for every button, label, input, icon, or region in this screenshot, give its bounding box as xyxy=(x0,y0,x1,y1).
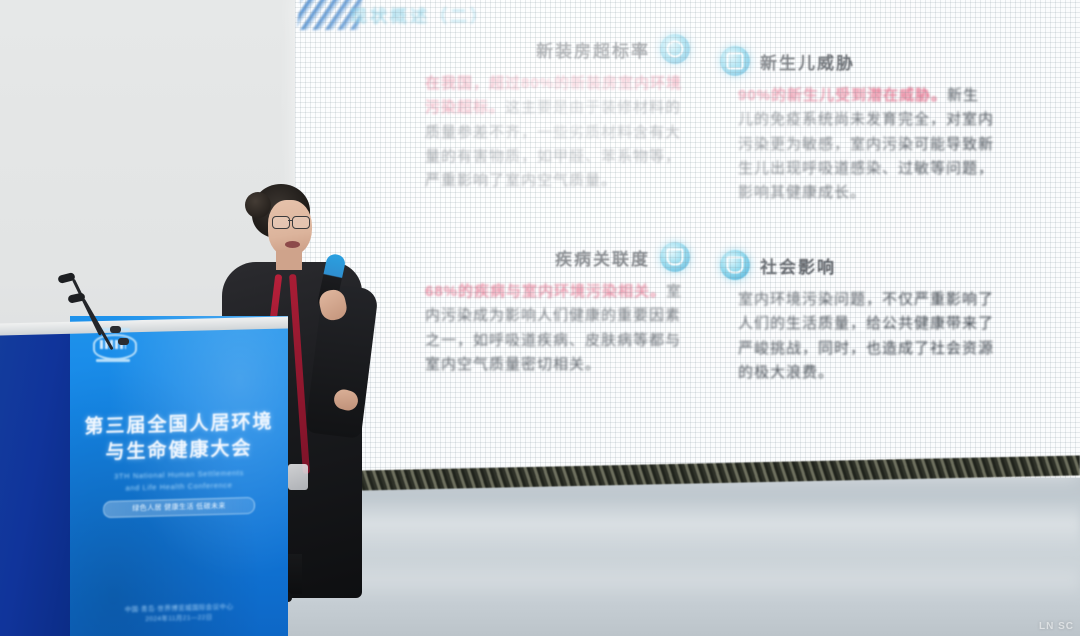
slide-block-highlight: 68%的疾病与室内环境污染相关。 xyxy=(425,283,666,300)
slide-content-area: 新装房超标率 在我国，超过80%的新装房室内环境污染超标。这主要是由于装修材料的… xyxy=(295,34,1080,434)
slide-block-social-impact: 社会影响 室内环境污染问题，不仅严重影响了人们的生活质量，给公共健康带来了严峻挑… xyxy=(720,250,995,385)
slide-block-title: 新生儿威胁 xyxy=(760,49,855,74)
name-badge xyxy=(288,464,308,490)
slide-block-highlight: 90%的新生儿受到潜在威胁。 xyxy=(738,87,947,104)
slide-block-newborn-threat: 新生儿威胁 90%的新生儿受到潜在威胁。新生儿的免疫系统尚未发育完全，对室内污染… xyxy=(720,46,995,205)
podium-title-line-2: 与生命健康大会 xyxy=(76,435,282,466)
slide-block-body: 室内环境污染问题，不仅严重影响了人们的生活质量，给公共健康带来了严峻挑战，同时，… xyxy=(738,291,994,381)
slide-block-title: 疾病关联度 xyxy=(555,245,650,270)
slide-block-header: 社会影响 xyxy=(720,250,995,280)
conference-photo-scene: 现状概述（二） 新装房超标率 在我国，超过80%的新装房室内环境污染超标。这主要… xyxy=(0,0,1080,636)
baby-circle-icon xyxy=(720,46,750,76)
leaf-circle-icon xyxy=(660,34,690,64)
slide-block-paragraph: 68%的疾病与室内环境污染相关。室内污染成为影响人们健康的重要因素之一，如呼吸道… xyxy=(425,280,690,377)
podium-side-panel xyxy=(0,328,72,636)
slide-block-paragraph: 室内环境污染问题，不仅严重影响了人们的生活质量，给公共健康带来了严峻挑战，同时，… xyxy=(738,288,995,385)
speaker-neck xyxy=(276,250,302,270)
slide-block-header: 新生儿威胁 xyxy=(720,46,995,76)
glasses-icon xyxy=(272,216,312,227)
slide-title: 现状概述（二） xyxy=(350,2,490,27)
watermark: LN SC xyxy=(1039,621,1074,632)
speaker-mouth xyxy=(285,241,300,248)
gooseneck-microphone-front-icon xyxy=(68,276,208,346)
podium: 第三届全国人居环境 与生命健康大会 3TH National Human Set… xyxy=(0,316,288,636)
slide-block-header: 新装房超标率 xyxy=(425,34,690,64)
slide-block-title: 社会影响 xyxy=(760,253,836,278)
led-projection-screen: 现状概述（二） 新装房超标率 在我国，超过80%的新装房室内环境污染超标。这主要… xyxy=(295,0,1080,478)
slide-block-title: 新装房超标率 xyxy=(536,37,650,62)
slide-block-new-renovation: 新装房超标率 在我国，超过80%的新装房室内环境污染超标。这主要是由于装修材料的… xyxy=(425,34,690,193)
slide-block-header: 疾病关联度 xyxy=(425,242,690,272)
podium-banner-text: 第三届全国人居环境 与生命健康大会 3TH National Human Set… xyxy=(76,409,282,519)
speaker-hair-bun xyxy=(245,192,271,218)
slide-block-disease-correlation: 疾病关联度 68%的疾病与室内环境污染相关。室内污染成为影响人们健康的重要因素之… xyxy=(425,242,690,377)
health-circle-icon xyxy=(660,242,690,272)
slide-block-paragraph: 90%的新生儿受到潜在威胁。新生儿的免疫系统尚未发育完全，对室内污染更为敏感，室… xyxy=(738,84,995,205)
slide-block-paragraph: 在我国，超过80%的新装房室内环境污染超标。这主要是由于装修材料的质量参差不齐，… xyxy=(425,72,690,193)
society-circle-icon xyxy=(720,250,750,280)
slide-block-body: 新生儿的免疫系统尚未发育完全，对室内污染更为敏感，室内污染可能导致新生儿出现呼吸… xyxy=(738,87,994,201)
